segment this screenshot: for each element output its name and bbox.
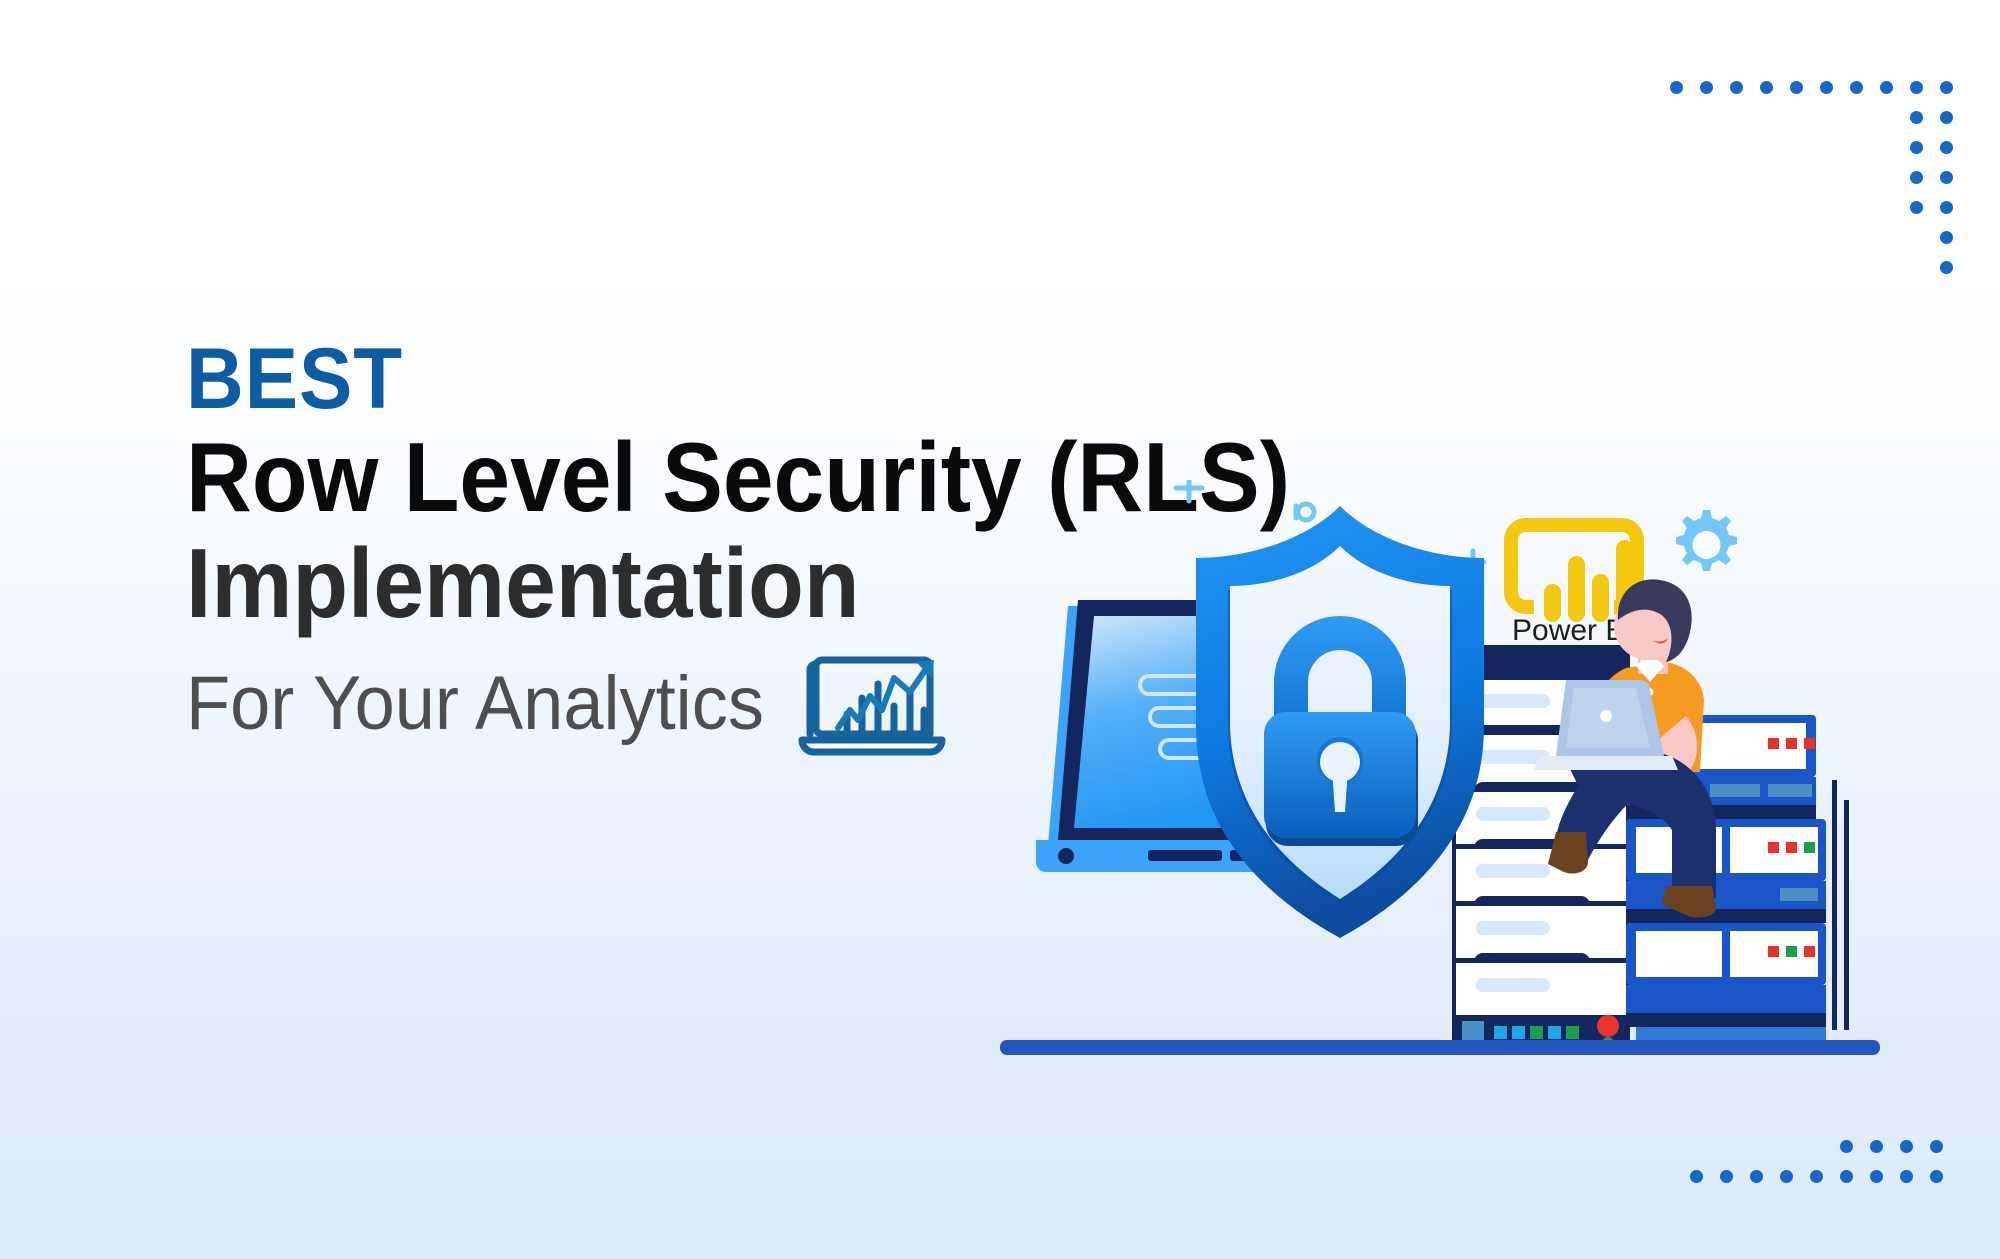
hero-illustration: Power BI	[1000, 480, 1900, 1100]
ground-line	[1000, 1040, 1880, 1055]
decor-dot	[1910, 81, 1923, 94]
decor-dot	[1750, 1170, 1763, 1183]
decor-dot	[1760, 81, 1773, 94]
decor-dot	[1840, 1170, 1853, 1183]
decor-dot	[1910, 201, 1923, 214]
decor-dot	[1910, 141, 1923, 154]
analytics-chart-icon	[798, 648, 946, 760]
kicker-text: BEST	[186, 340, 1283, 420]
decor-circle	[1298, 504, 1314, 520]
bottom-right-dot-grid	[1690, 1140, 1980, 1210]
decor-dot	[1670, 81, 1683, 94]
shield-lock-icon	[1196, 506, 1484, 938]
decor-dot	[1810, 1170, 1823, 1183]
decor-dot	[1840, 1140, 1853, 1153]
decor-dot	[1730, 81, 1743, 94]
decor-dot	[1940, 81, 1953, 94]
decor-dot	[1720, 1170, 1733, 1183]
decor-dot	[1780, 1170, 1793, 1183]
decor-dot	[1930, 1140, 1943, 1153]
decor-dot	[1880, 81, 1893, 94]
decor-dot	[1910, 171, 1923, 184]
decor-dot	[1700, 81, 1713, 94]
decor-dot	[1820, 81, 1833, 94]
decor-dot	[1940, 141, 1953, 154]
decor-dot	[1870, 1170, 1883, 1183]
top-right-dot-grid	[1670, 55, 1990, 305]
decor-dot	[1930, 1170, 1943, 1183]
decor-dot	[1690, 1170, 1703, 1183]
decor-dot	[1940, 261, 1953, 274]
subtitle-text: For Your Analytics	[186, 664, 764, 744]
decor-dot	[1940, 111, 1953, 124]
decor-dot	[1790, 81, 1803, 94]
decor-dot	[1900, 1170, 1913, 1183]
decor-dot	[1910, 111, 1923, 124]
decor-dot	[1850, 81, 1863, 94]
decor-dot	[1940, 231, 1953, 244]
decor-dot	[1870, 1140, 1883, 1153]
gear-icon	[1676, 510, 1737, 571]
decor-dot	[1940, 171, 1953, 184]
decor-dot	[1900, 1140, 1913, 1153]
decor-dot	[1940, 201, 1953, 214]
